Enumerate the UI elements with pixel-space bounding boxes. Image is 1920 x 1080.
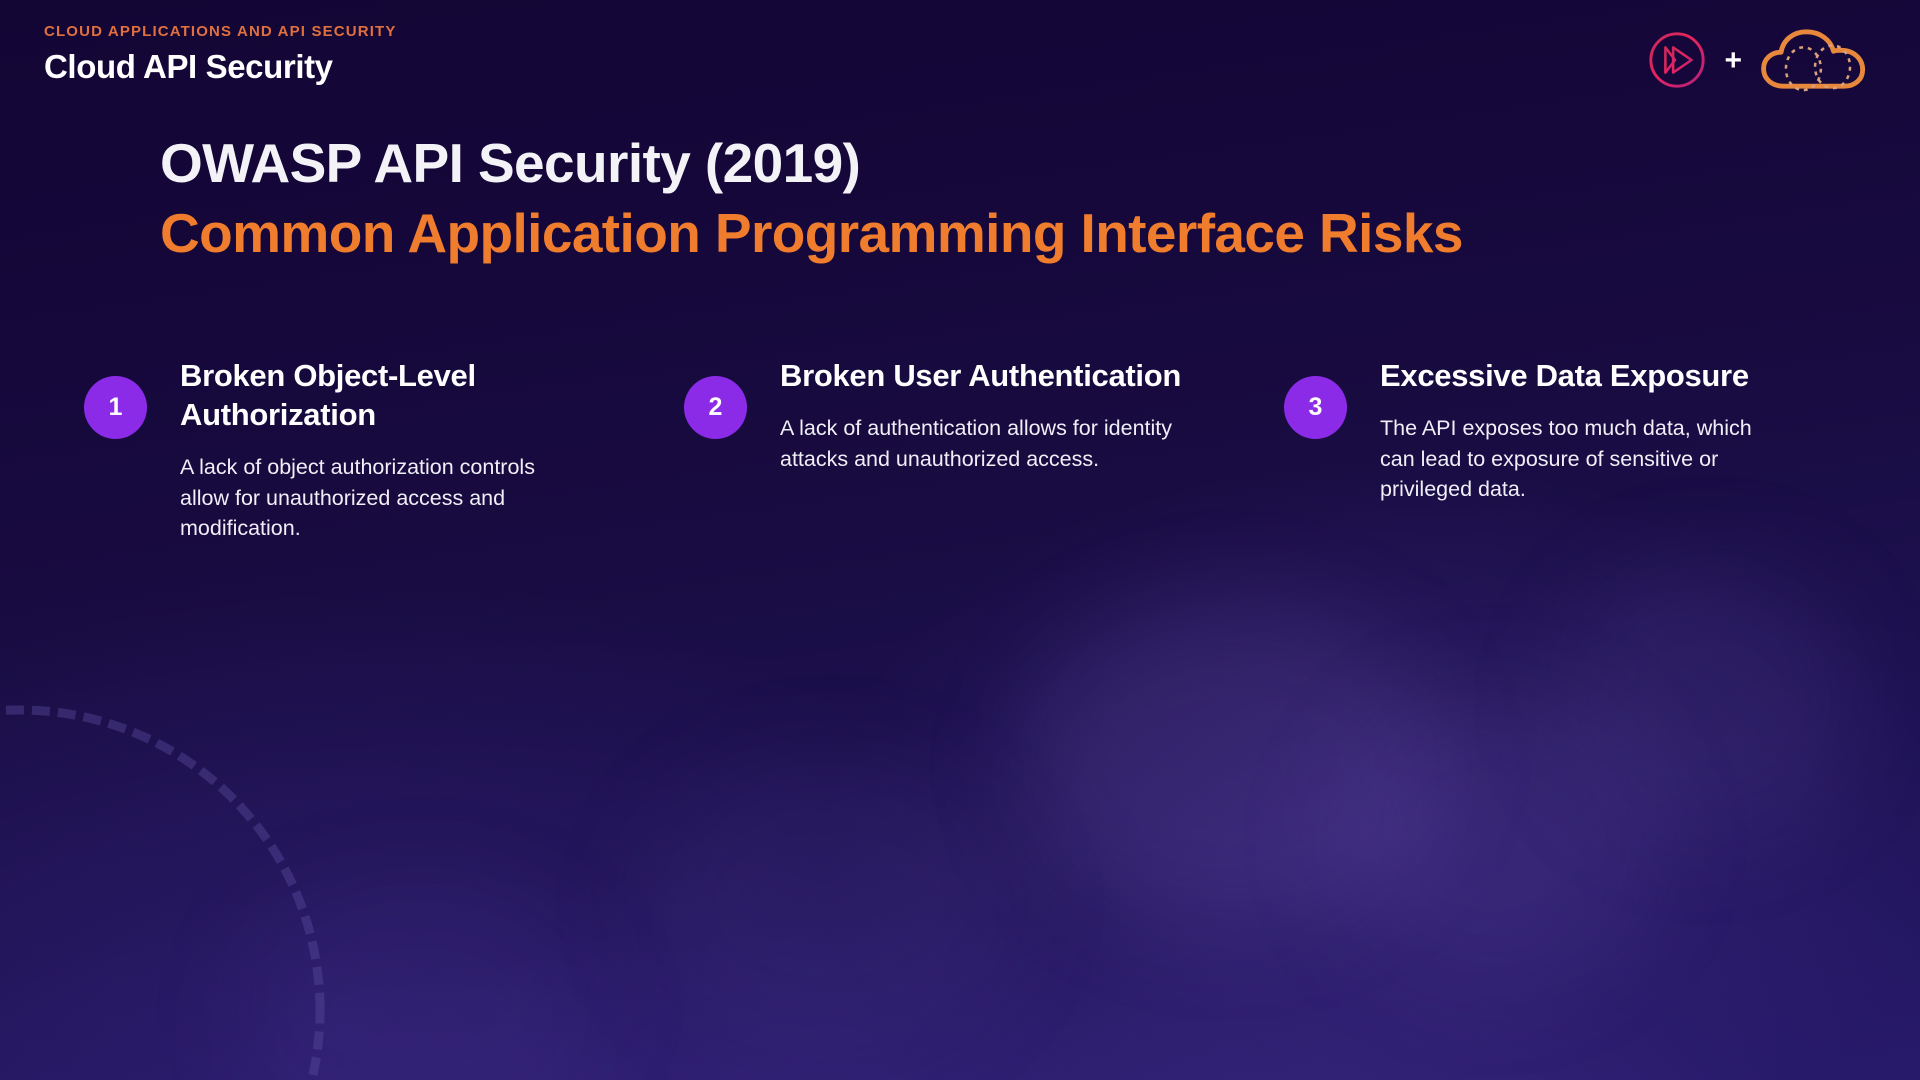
background-glow-c [640,760,1020,1050]
risk-number-badge-2: 2 [684,376,747,439]
risk-body-1: Broken Object-Level Authorization A lack… [180,356,582,544]
slide-root: CLOUD APPLICATIONS AND API SECURITY Clou… [0,0,1920,1080]
risk-body-3: Excessive Data Exposure The API exposes … [1380,356,1782,505]
slide-title-block: OWASP API Security (2019) Common Applica… [160,134,1880,264]
slide-header: CLOUD APPLICATIONS AND API SECURITY Clou… [0,0,1920,116]
header-eyebrow: CLOUD APPLICATIONS AND API SECURITY [44,24,396,39]
header-text-group: CLOUD APPLICATIONS AND API SECURITY Clou… [44,24,396,85]
risk-card-list: 1 Broken Object-Level Authorization A la… [84,356,1884,544]
risk-title-2: Broken User Authentication [780,356,1182,395]
risk-description-3: The API exposes too much data, which can… [1380,413,1782,505]
play-circle-icon [1646,29,1708,91]
background-glow-d [1560,560,1860,840]
risk-description-1: A lack of object authorization controls … [180,452,582,544]
risk-title-1: Broken Object-Level Authorization [180,356,582,434]
header-logo-group: + [1646,24,1876,96]
background-glow-b [1330,690,1660,990]
cloud-outline-icon [1758,26,1876,94]
slide-title-main: OWASP API Security (2019) [160,134,1880,193]
risk-number-badge-1: 1 [84,376,147,439]
plus-icon: + [1724,46,1742,76]
dashed-arc-decoration [0,690,340,1080]
header-brand-title: Cloud API Security [44,49,396,85]
risk-card-2: 2 Broken User Authentication A lack of a… [684,356,1284,544]
risk-body-2: Broken User Authentication A lack of aut… [780,356,1182,474]
slide-title-subtitle: Common Application Programming Interface… [160,204,1880,263]
background-glow-a [1020,600,1440,930]
risk-card-3: 3 Excessive Data Exposure The API expose… [1284,356,1884,544]
risk-number-badge-3: 3 [1284,376,1347,439]
background-glow-e [240,880,600,1080]
risk-description-2: A lack of authentication allows for iden… [780,413,1182,474]
risk-card-1: 1 Broken Object-Level Authorization A la… [84,356,684,544]
risk-title-3: Excessive Data Exposure [1380,356,1782,395]
